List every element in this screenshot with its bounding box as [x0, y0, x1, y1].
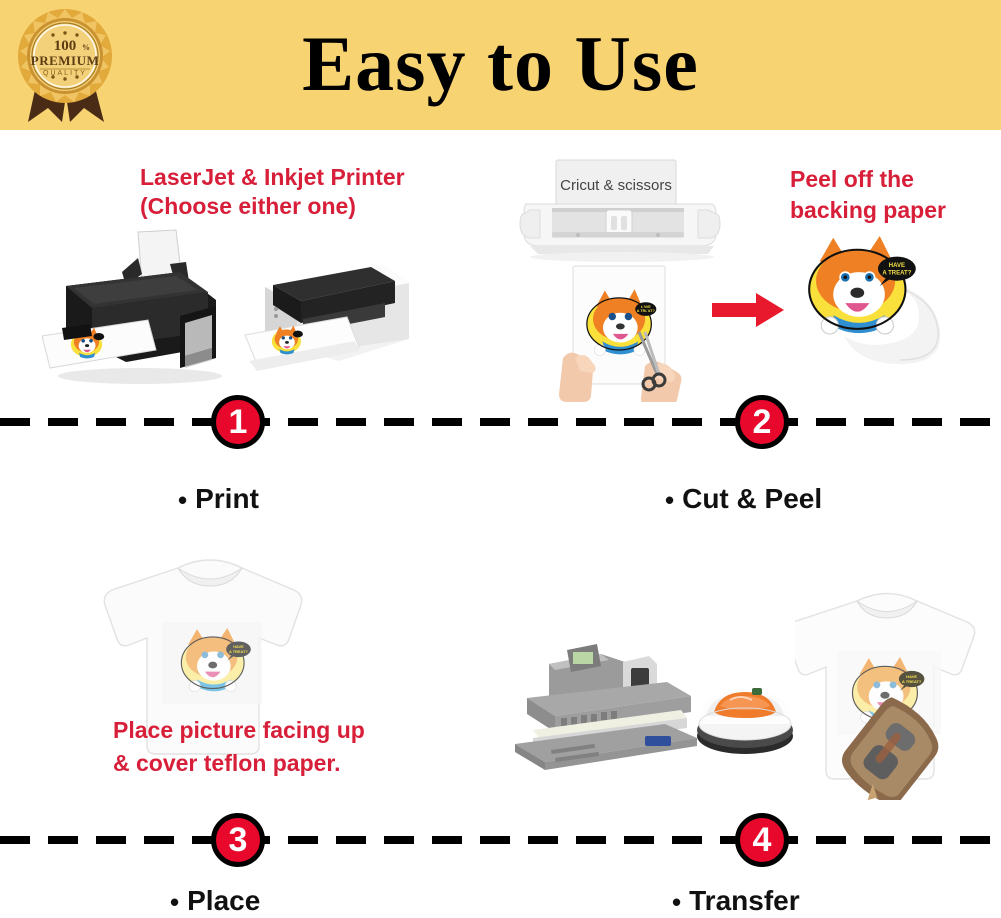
step-label-4-text: Transfer [689, 885, 800, 916]
svg-text:HAVE: HAVE [889, 263, 905, 269]
step-number-1: 1 [211, 395, 265, 449]
panel-2-caption-line-1: Peel off the [790, 165, 914, 194]
svg-text:A TREAT?: A TREAT? [902, 679, 922, 684]
cricut-cutting-machine: Cricut & scissors [518, 158, 733, 263]
step-label-1: •Print [178, 483, 259, 516]
panel-2-caption-line-2: backing paper [790, 196, 946, 225]
step-label-4: •Transfer [672, 885, 800, 918]
step-number-4: 4 [735, 813, 789, 867]
panel-3-caption-line-2: & cover teflon paper. [113, 749, 341, 778]
step-label-1-text: Print [195, 483, 259, 514]
header-banner: 100 % PREMIUM QUALITY Easy to Use [0, 0, 1001, 130]
svg-text:HAVE: HAVE [906, 674, 917, 679]
peeled-decal: HAVE A TREAT? [790, 230, 970, 370]
easypress-mini [690, 650, 800, 760]
step-label-3: •Place [170, 885, 260, 918]
step-label-2: •Cut & Peel [665, 483, 822, 516]
bullet-icon-4: • [672, 887, 681, 917]
bullet-icon-3: • [170, 887, 179, 917]
svg-text:A TREAT?: A TREAT? [882, 271, 911, 277]
step-label-2-text: Cut & Peel [682, 483, 822, 514]
step-number-2: 2 [735, 395, 789, 449]
svg-text:HAVE: HAVE [233, 644, 244, 649]
page-title: Easy to Use [0, 14, 1001, 114]
cricut-label: Cricut & scissors [560, 177, 672, 194]
bullet-icon-2: • [665, 485, 674, 515]
svg-text:A TREAT?: A TREAT? [229, 649, 248, 654]
tshirt-with-iron: HAVE A TREAT? [795, 585, 1000, 800]
heat-press-machine [505, 640, 705, 770]
panel-1-caption-line-2: (Choose either one) [140, 192, 356, 221]
laserjet-printer [243, 243, 418, 383]
divider-dashed-line-2 [0, 836, 1001, 844]
hands-holding-print: HAVE A TREAT? [545, 262, 715, 402]
inkjet-printer [30, 228, 245, 388]
red-arrow-icon [710, 290, 786, 330]
step-label-3-text: Place [187, 885, 260, 916]
panel-3-caption-line-1: Place picture facing up [113, 716, 365, 745]
step-number-3: 3 [211, 813, 265, 867]
divider-dashed-line-1 [0, 418, 1001, 426]
panel-1-caption-line-1: LaserJet & Inkjet Printer [140, 163, 405, 192]
bullet-icon-1: • [178, 485, 187, 515]
